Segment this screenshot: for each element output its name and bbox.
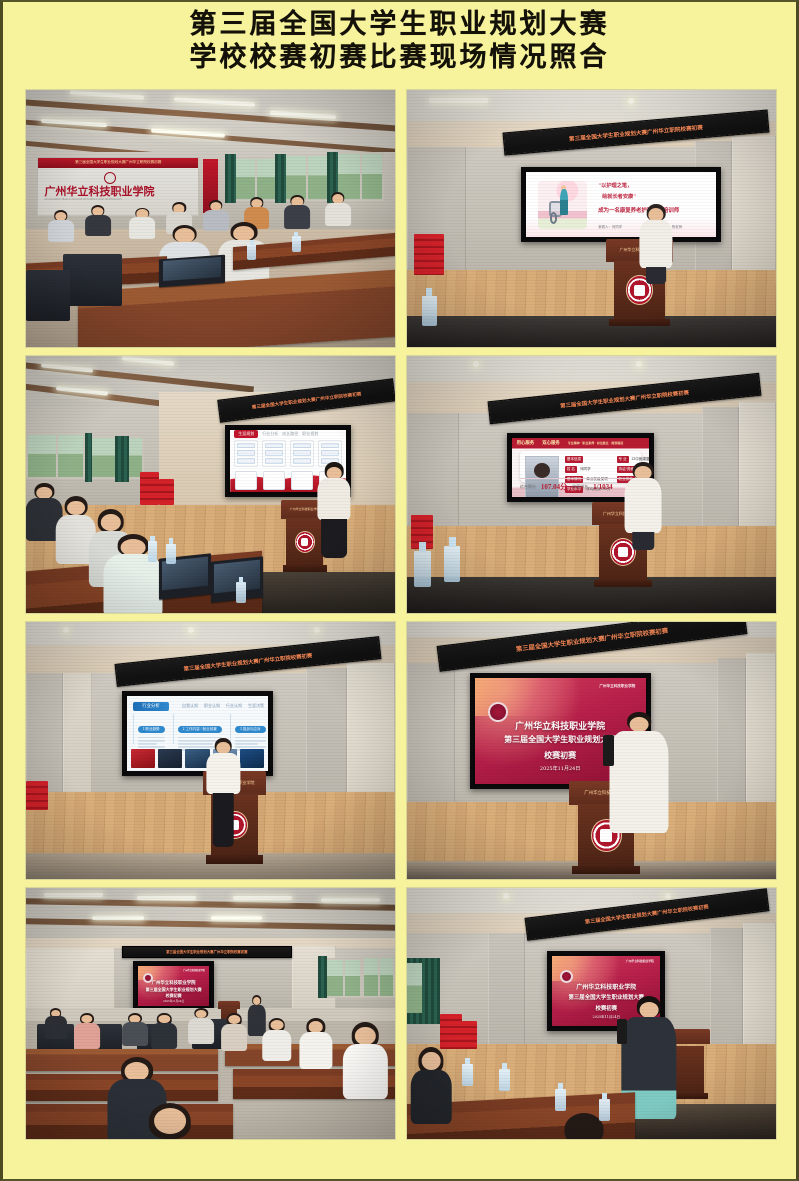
podium-label: 广州华立科技职业学院 bbox=[290, 507, 320, 511]
audience-person bbox=[262, 1019, 292, 1062]
photo-3-scene: 第三届全国大学生职业规划大赛广州华立职院校赛初赛 生涯规划 行业分析 成长路径 … bbox=[26, 356, 395, 613]
window bbox=[407, 963, 422, 1013]
photo-7[interactable]: 第三届全国大学生职业规划大赛广州华立职院校赛初赛 广州华立科技职业学院 广州华立… bbox=[25, 887, 396, 1140]
audience-person-front bbox=[137, 1104, 203, 1139]
photo-2-banner-text: 第三届全国大学生职业规划大赛广州华立职院校赛初赛 bbox=[569, 123, 703, 143]
photo-5[interactable]: 第三届全国大学生职业规划大赛广州华立职院校赛初赛 行业分析 自我认知 职业认知 … bbox=[25, 621, 396, 880]
photo-2[interactable]: 第三届全国大学生职业规划大赛广州华立职院校赛初赛 "以护理之笔， 绘就长者安康"… bbox=[406, 89, 777, 348]
slide-topbar: 用心服务 双心服务 专业精神 · 职业素养 · 岗位胜任 · 规划路径 bbox=[512, 438, 650, 449]
water-bottle bbox=[462, 1064, 473, 1087]
photo-2-scene: 第三届全国大学生职业规划大赛广州华立职院校赛初赛 "以护理之笔， 绘就长者安康"… bbox=[407, 90, 776, 347]
slide-tab-1: 职业认知 bbox=[204, 703, 220, 709]
audience-person bbox=[299, 1019, 332, 1069]
audience-person bbox=[85, 206, 111, 237]
school-seal-icon bbox=[295, 531, 315, 553]
laptop bbox=[159, 255, 225, 288]
slide-col-1-title: 2 工作内容 / 就业前景 bbox=[178, 726, 222, 733]
window bbox=[362, 956, 395, 999]
presenter bbox=[625, 464, 662, 549]
water-bottle bbox=[292, 236, 301, 251]
slide-tab-3: 职业规划 bbox=[302, 431, 318, 437]
water-bottle bbox=[499, 1069, 510, 1092]
slide-score-row: 综合得分 107.04分 校赛排名 1/1034 bbox=[520, 478, 641, 492]
slide-corner-logo: 广州华立科技职业学院 bbox=[183, 968, 205, 972]
photo-1[interactable]: 第三届全国大学生职业规划大赛广州华立职院校赛初赛 广州华立科技职业学院 GUAN… bbox=[25, 89, 396, 348]
stacked-stools bbox=[459, 1021, 477, 1049]
slide-columns: 1 职业趋势 2 工作内容 / 就业前景 3 挑战与应对 bbox=[133, 714, 263, 744]
audience-person bbox=[325, 193, 351, 226]
field-label: 姓 名 bbox=[565, 466, 577, 473]
slide-heading: 行业分析 bbox=[133, 702, 170, 710]
slide-illustration bbox=[538, 181, 587, 229]
slide-line-1: 广州华立科技职业学院 bbox=[138, 980, 209, 986]
photo-7-banner: 第三届全国大学生职业规划大赛广州华立职院校赛初赛 bbox=[122, 946, 292, 959]
water-bottle bbox=[444, 546, 461, 582]
host-speaker bbox=[610, 715, 669, 833]
water-bottle bbox=[236, 582, 246, 603]
chair bbox=[26, 270, 70, 321]
window bbox=[325, 958, 362, 998]
presenter bbox=[639, 206, 672, 283]
rank-label: 校赛排名 bbox=[572, 484, 588, 490]
water-bottle bbox=[414, 551, 431, 587]
slide-tab-2: 成长路径 bbox=[282, 431, 298, 437]
photo-grid: 第三届全国大学生职业规划大赛广州华立职院校赛初赛 广州华立科技职业学院 GUAN… bbox=[25, 89, 777, 1140]
photo-5-slide: 行业分析 自我认知 职业认知 行业认知 生涯决策 1 职业趋势 2 工 bbox=[127, 696, 268, 771]
curtain bbox=[225, 154, 236, 203]
slide-tabbar: 生涯规划 行业分析 成长路径 职业规划 bbox=[230, 430, 345, 438]
water-bottle bbox=[148, 541, 158, 562]
score-value: 107.04分 bbox=[541, 482, 567, 492]
audience-person bbox=[122, 1014, 148, 1047]
field-label: 专 业 bbox=[617, 456, 629, 463]
photo-7-slide: 广州华立科技职业学院 广州华立科技职业学院 第三届全国大学生职业规划大赛 校赛初… bbox=[138, 966, 209, 1006]
slide-col-2-title: 3 挑战与应对 bbox=[235, 726, 266, 733]
slide-col-0-title: 1 职业趋势 bbox=[138, 726, 165, 733]
stacked-stools bbox=[140, 472, 158, 505]
photo-6[interactable]: 第三届全国大学生职业规划大赛广州华立职院校赛初赛 广州华立科技职业学院 广州华立… bbox=[406, 621, 777, 880]
photo-5-screen: 行业分析 自我认知 职业认知 行业认知 生涯决策 1 职业趋势 2 工 bbox=[122, 691, 273, 776]
audience-person bbox=[188, 1008, 214, 1043]
slide-tab-2: 行业认知 bbox=[226, 703, 242, 709]
slide-date: 2025年11月24日 bbox=[138, 999, 209, 1003]
field-label: 基本信息 bbox=[565, 456, 583, 463]
rank-value: 1/1034 bbox=[593, 483, 612, 491]
photo-3[interactable]: 第三届全国大学生职业规划大赛广州华立职院校赛初赛 生涯规划 行业分析 成长路径 … bbox=[25, 355, 396, 614]
slide-topbar-right: 双心服务 bbox=[542, 440, 560, 446]
presenter bbox=[207, 740, 240, 848]
audience-person bbox=[151, 1014, 177, 1049]
microphone-icon bbox=[617, 1019, 627, 1044]
backdrop-school-name-en: GUANGZHOU HUALI COLLEGE OF SCIENCE AND T… bbox=[44, 198, 122, 201]
window bbox=[26, 433, 85, 479]
photo-7-banner-text: 第三届全国大学生职业规划大赛广州华立职院校赛初赛 bbox=[166, 949, 247, 954]
photo-4[interactable]: 第三届全国大学生职业规划大赛广州华立职院校赛初赛 用心服务 双心服务 专业精神 … bbox=[406, 355, 777, 614]
slide-line-2: 绘就长者安康" bbox=[602, 193, 636, 200]
slide-topbar-left: 用心服务 bbox=[517, 440, 535, 446]
audience-person bbox=[222, 1014, 248, 1052]
slide-topbar-tags: 专业精神 · 职业素养 · 岗位胜任 · 规划路径 bbox=[568, 441, 624, 445]
slide-photo-strip bbox=[131, 749, 264, 768]
photo-7-scene: 第三届全国大学生职业规划大赛广州华立职院校赛初赛 广州华立科技职业学院 广州华立… bbox=[26, 888, 395, 1139]
slide-tab-3: 生涯决策 bbox=[248, 703, 264, 709]
audience-person bbox=[343, 1024, 387, 1099]
slide-corner-logo: 广州华立科技职业学院 bbox=[599, 684, 635, 689]
curtain bbox=[318, 956, 327, 999]
field-value: 邓同学 bbox=[580, 467, 591, 472]
photo-7-screen: 广州华立科技职业学院 广州华立科技职业学院 第三届全国大学生职业规划大赛 校赛初… bbox=[133, 961, 214, 1011]
page-title-line-2: 学校校赛初赛比赛现场情况照合 bbox=[3, 41, 796, 74]
slide-line-1: 广州华立科技职业学院 bbox=[552, 982, 660, 991]
backdrop-school-name: 广州华立科技职业学院 bbox=[44, 183, 154, 199]
page-title: 第三届全国大学生职业规划大赛 学校校赛初赛比赛现场情况照合 bbox=[3, 2, 796, 74]
audience-person bbox=[74, 1014, 100, 1049]
slide-tabs: 自我认知 职业认知 行业认知 生涯决策 bbox=[182, 702, 264, 709]
water-bottle bbox=[247, 244, 256, 259]
slide-tab-1: 行业分析 bbox=[262, 431, 278, 437]
slide-footer-left: 参赛人：何同学 bbox=[598, 224, 622, 229]
water-bottle bbox=[599, 1099, 610, 1122]
photo-8-scene: 第三届全国大学生职业规划大赛广州华立职院校赛初赛 广州华立科技职业学院 广州华立… bbox=[407, 888, 776, 1139]
curtain bbox=[115, 436, 130, 482]
microphone-icon bbox=[603, 735, 614, 766]
audience-person bbox=[48, 211, 74, 242]
stacked-stools bbox=[159, 479, 174, 505]
stacked-stools bbox=[26, 781, 48, 809]
slide-tab-0: 生涯规划 bbox=[234, 430, 258, 438]
slide-line-1: "以护理之笔， bbox=[598, 182, 632, 189]
stacked-stools bbox=[414, 234, 444, 275]
photo-1-banner-text: 第三届全国大学生职业规划大赛广州华立职院校赛初赛 bbox=[75, 160, 161, 165]
slide-flow-body bbox=[234, 440, 343, 467]
score-label: 综合得分 bbox=[520, 484, 536, 490]
audience-person bbox=[129, 208, 155, 239]
audience-person bbox=[284, 195, 310, 228]
slide-corner-logo: 广州华立科技职业学院 bbox=[626, 959, 654, 963]
chair bbox=[63, 254, 122, 305]
judge bbox=[411, 1049, 452, 1124]
slide-tab-0: 自我认知 bbox=[182, 703, 198, 709]
water-bottle bbox=[422, 296, 437, 327]
water-bottle bbox=[555, 1089, 566, 1112]
photo-2-slide: "以护理之笔， 绘就长者安康" 成为一名康复养老护理健康培训师 参赛人：何同学 … bbox=[526, 172, 715, 237]
photo-8[interactable]: 第三届全国大学生职业规划大赛广州华立职院校赛初赛 广州华立科技职业学院 广州华立… bbox=[406, 887, 777, 1140]
photo-6-scene: 第三届全国大学生职业规划大赛广州华立职院校赛初赛 广州华立科技职业学院 广州华立… bbox=[407, 622, 776, 879]
audience-person bbox=[44, 1008, 66, 1038]
page-title-line-1: 第三届全国大学生职业规划大赛 bbox=[3, 8, 796, 41]
photo-2-screen: "以护理之笔， 绘就长者安康" 成为一名康复养老护理健康培训师 参赛人：何同学 … bbox=[521, 167, 720, 242]
window bbox=[284, 154, 328, 200]
photo-1-scene: 第三届全国大学生职业规划大赛广州华立职院校赛初赛 广州华立科技职业学院 GUAN… bbox=[26, 90, 395, 347]
presenter bbox=[318, 464, 351, 557]
photo-5-scene: 第三届全国大学生职业规划大赛广州华立职院校赛初赛 行业分析 自我认知 职业认知 … bbox=[26, 622, 395, 879]
curtain bbox=[85, 433, 92, 482]
photo-4-scene: 第三届全国大学生职业规划大赛广州华立职院校赛初赛 用心服务 双心服务 专业精神 … bbox=[407, 356, 776, 613]
water-bottle bbox=[166, 544, 176, 565]
school-crest-icon bbox=[104, 172, 116, 184]
window bbox=[233, 157, 277, 201]
